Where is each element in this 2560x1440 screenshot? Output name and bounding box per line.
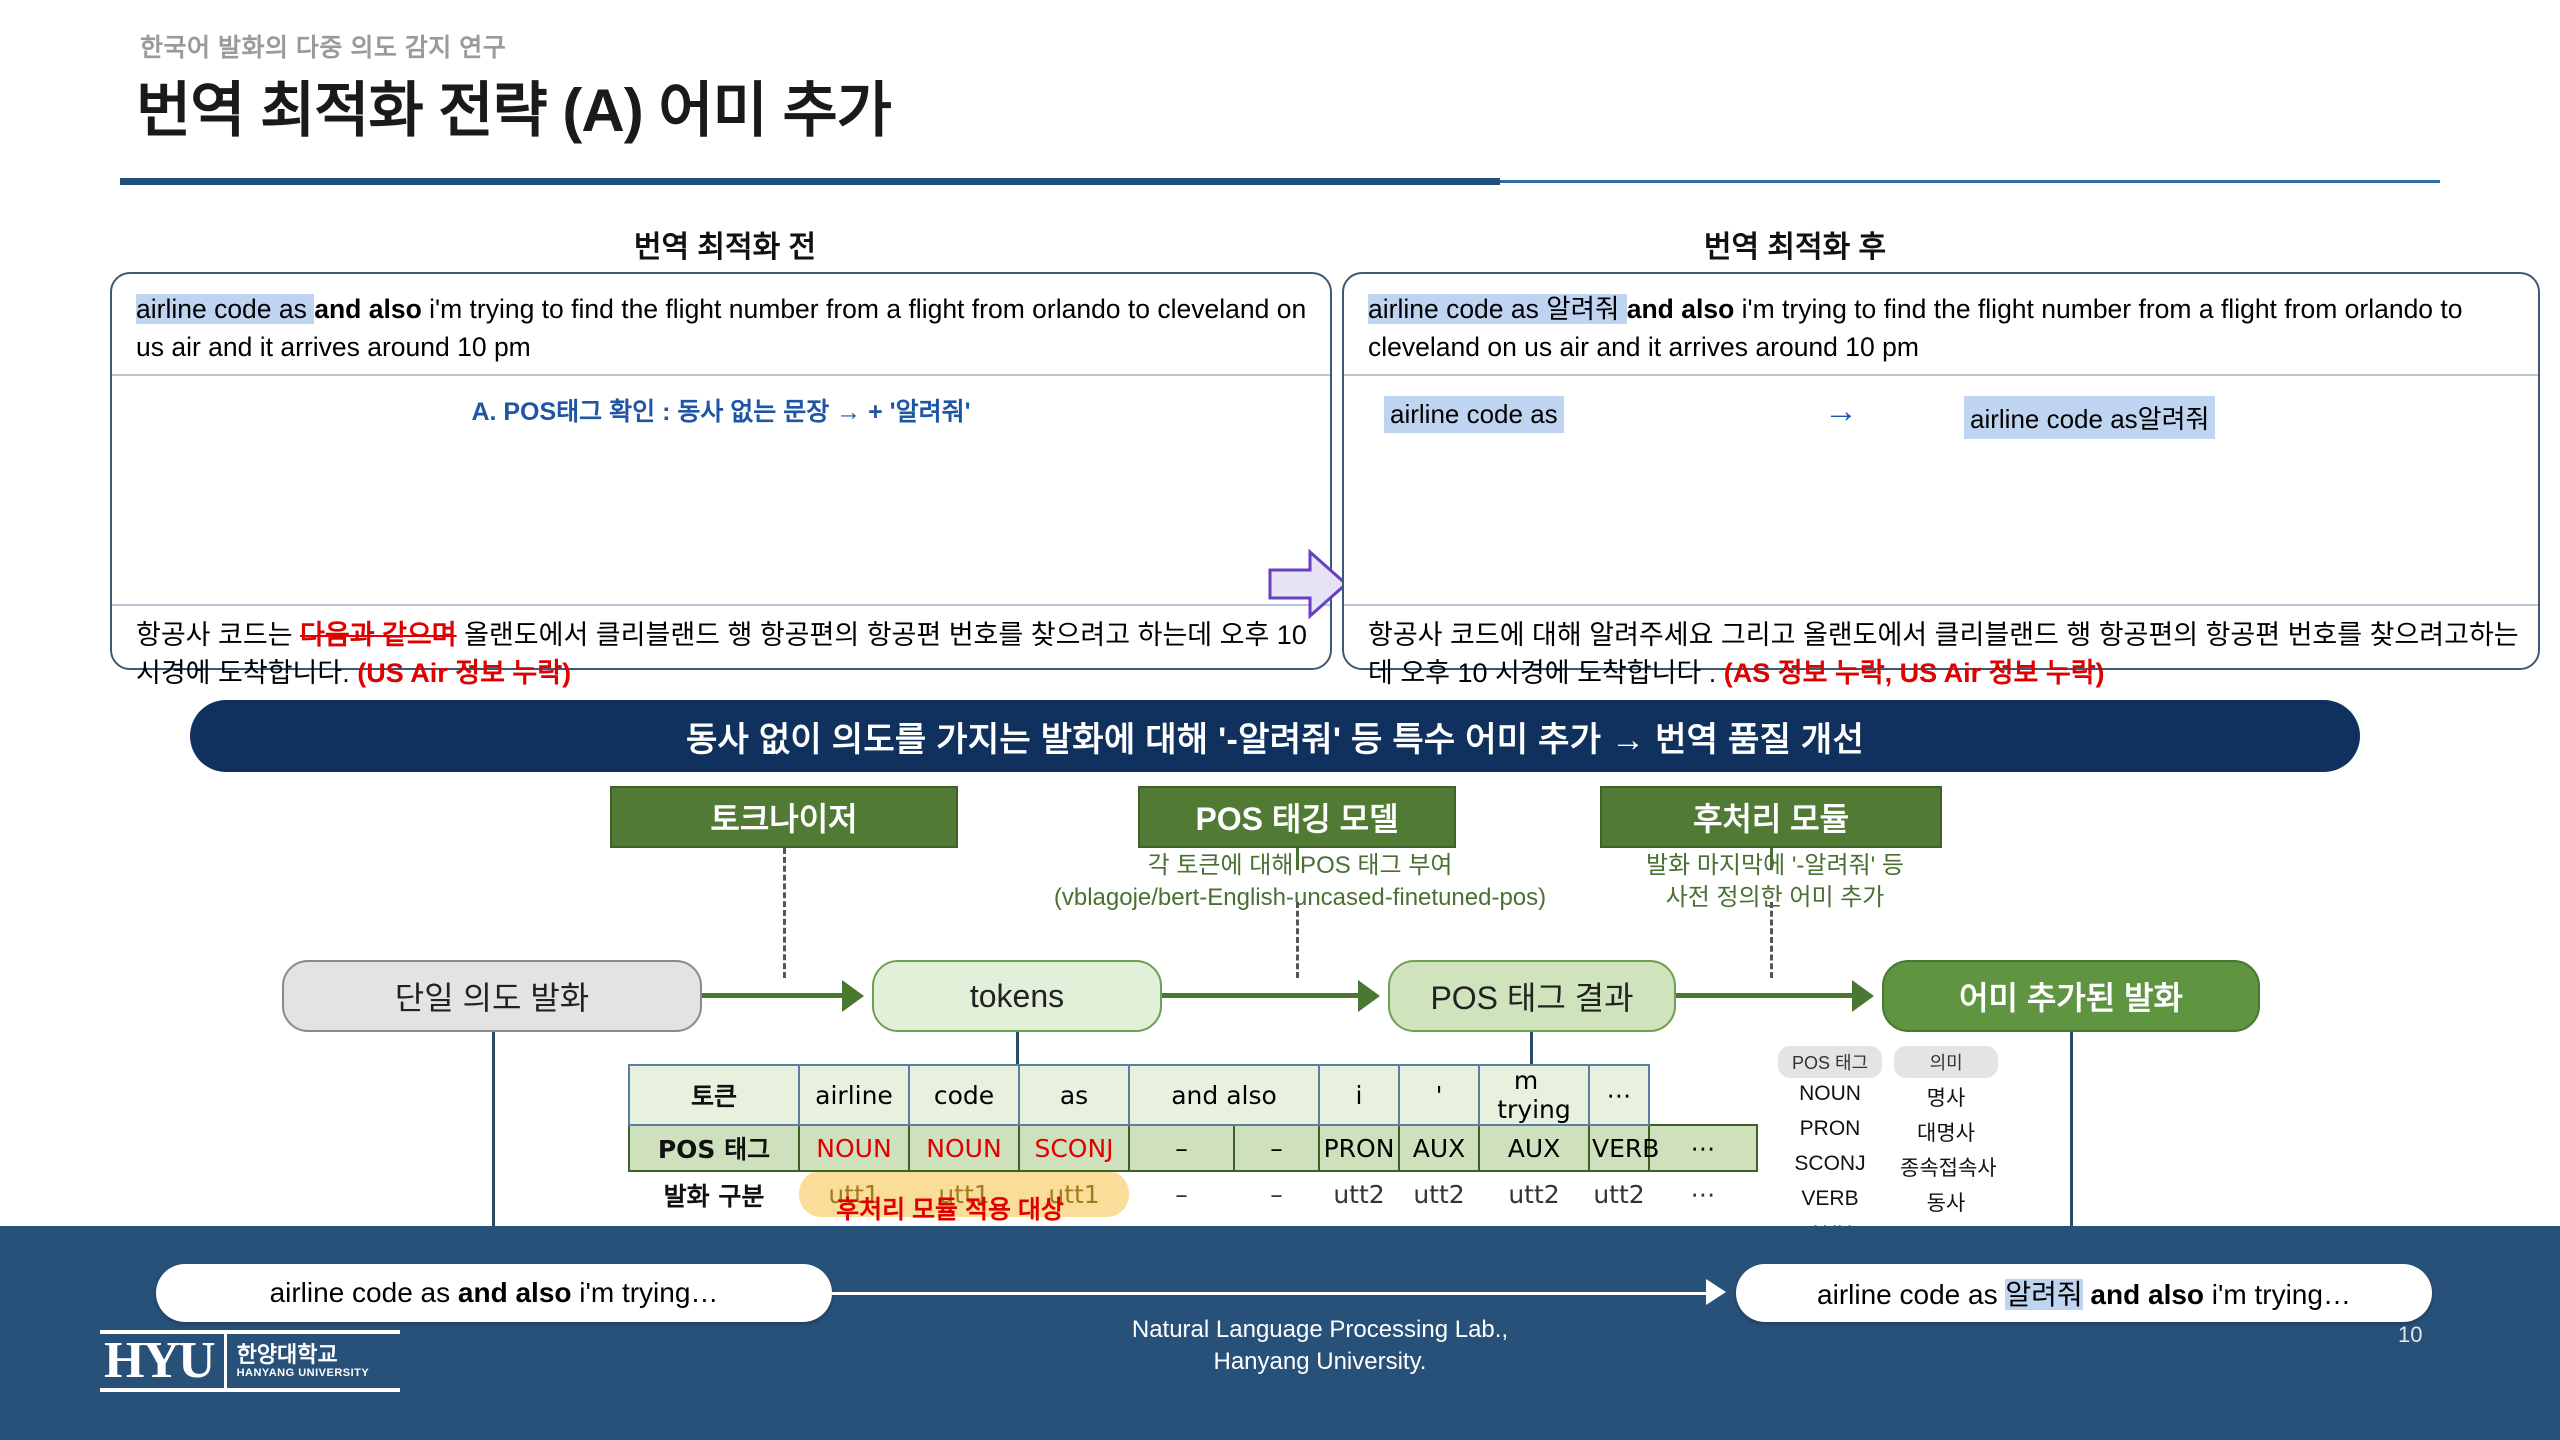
logo-wordmark: HYU — [100, 1335, 214, 1387]
caption-after: 번역 최적화 후 — [1630, 222, 1960, 266]
flow-arrow-2 — [1162, 993, 1362, 998]
before-translation-warning: (US Air 정보 누락) — [357, 658, 571, 688]
legend-row: SCONJ 종속접속사 — [1778, 1151, 2003, 1183]
pos-desc-line2: (vblagoje/bert-English-uncased-finetuned… — [1000, 882, 1600, 914]
pos-cell: – — [1234, 1125, 1319, 1171]
slide-root: 한국어 발화의 다중 의도 감지 연구 번역 최적화 전략 (A) 어미 추가 … — [0, 0, 2560, 1440]
after-sentence-highlight: airline code as 알려줘 — [1368, 294, 1627, 324]
after-arrow-icon: → — [1824, 392, 1858, 431]
before-source-sentence: airline code as and also i'm trying to f… — [136, 290, 1310, 367]
pos-legend: POS 태그 의미 NOUN 명사 PRON 대명사 SCONJ 종속접속사 V… — [1778, 1046, 2003, 1253]
footer-lab-line2: Hanyang University. — [1080, 1346, 1560, 1378]
row-label-pos: POS 태그 — [629, 1125, 799, 1171]
post-module-description: 발화 마지막에 '-알려줘' 등 사전 정의한 어미 추가 — [1600, 850, 1950, 913]
logo-name-en: HANYANG UNIVERSITY — [237, 1367, 370, 1379]
flow-arrow-1 — [702, 993, 846, 998]
key-message-banner: 동사 없이 의도를 가지는 발화에 대해 '-알려줘' 등 특수 어미 추가 →… — [190, 700, 2360, 772]
utterance-cell: utt2 — [1479, 1171, 1589, 1217]
module-tokenizer[interactable]: 토크나이저 — [610, 786, 958, 848]
legend-meaning: 대명사 — [1894, 1116, 1998, 1148]
token-cell: i — [1319, 1065, 1399, 1125]
flow-arrowhead-1 — [842, 980, 864, 1012]
before-translation-pre: 항공사 코드는 — [136, 620, 300, 650]
utterance-cell: utt2 — [1399, 1171, 1479, 1217]
token-cell: m trying — [1479, 1065, 1589, 1125]
right-pill-pre: airline code as — [1817, 1279, 2005, 1310]
module-pos-tagger[interactable]: POS 태깅 모델 — [1138, 786, 1456, 848]
pos-cell: NOUN — [909, 1125, 1019, 1171]
legend-tag: NOUN — [1778, 1081, 1882, 1113]
pos-desc-line1: 각 토큰에 대해 POS 태그 부여 — [1000, 850, 1600, 882]
caption-before: 번역 최적화 전 — [560, 222, 890, 266]
page-title: 번역 최적화 전략 (A) 어미 추가 — [136, 62, 891, 149]
before-divider-bottom — [112, 604, 1330, 606]
footer-lab-line1: Natural Language Processing Lab., — [1080, 1314, 1560, 1346]
dashed-connector-pos — [1296, 902, 1299, 978]
legend-row: VERB 동사 — [1778, 1186, 2003, 1218]
pos-cell: VERB — [1589, 1125, 1649, 1171]
after-translation-warning: (AS 정보 누락, US Air 정보 누락) — [1724, 658, 2105, 688]
title-rule-primary — [120, 178, 1500, 185]
token-cell: and also — [1129, 1065, 1319, 1125]
legend-header-tag: POS 태그 — [1778, 1046, 1882, 1078]
panel-before-optimization: airline code as and also i'm trying to f… — [110, 272, 1332, 670]
token-cell: ' — [1399, 1065, 1479, 1125]
after-chip-result: airline code as알려줘 — [1964, 396, 2215, 439]
example-output-pill: airline code as 알려줘 and also i'm trying… — [1736, 1264, 2432, 1322]
right-pill-highlight: 알려줘 — [2005, 1279, 2082, 1310]
flow-arrowhead-2 — [1358, 980, 1380, 1012]
slide-eyebrow: 한국어 발화의 다중 의도 감지 연구 — [140, 28, 506, 64]
legend-tag: VERB — [1778, 1186, 1882, 1218]
after-chip-source: airline code as — [1384, 396, 1564, 433]
pos-cell: PRON — [1319, 1125, 1399, 1171]
drop-line-tokens — [1016, 1032, 1019, 1064]
flow-node-suffix-added[interactable]: 어미 추가된 발화 — [1882, 960, 2260, 1032]
table-row-pos: POS 태그 NOUN NOUN SCONJ – – PRON AUX AUX … — [629, 1125, 1757, 1171]
legend-header-meaning: 의미 — [1894, 1046, 1998, 1078]
pos-legend-header: POS 태그 의미 — [1778, 1046, 2003, 1078]
left-pill-pre: airline code as — [270, 1277, 458, 1308]
module-postprocessor[interactable]: 후처리 모듈 — [1600, 786, 1942, 848]
right-pill-post: i'm trying… — [2204, 1279, 2351, 1310]
after-sentence-bold: and also — [1627, 294, 1735, 324]
flow-node-single-intent[interactable]: 단일 의도 발화 — [282, 960, 702, 1032]
left-pill-post: i'm trying… — [572, 1277, 719, 1308]
example-connector-arrowhead — [1706, 1279, 1726, 1305]
footer-lab-credit: Natural Language Processing Lab., Hanyan… — [1080, 1314, 1560, 1379]
logo-divider — [224, 1334, 227, 1388]
post-desc-line1: 발화 마지막에 '-알려줘' 등 — [1600, 850, 1950, 882]
drop-line-pos — [1530, 1032, 1533, 1064]
flow-node-pos-result[interactable]: POS 태그 결과 — [1388, 960, 1676, 1032]
post-desc-line2: 사전 정의한 어미 추가 — [1600, 882, 1950, 914]
legend-row: NOUN 명사 — [1778, 1081, 2003, 1113]
dashed-connector-tokenizer — [783, 848, 786, 978]
example-connector-line — [832, 1292, 1712, 1295]
transition-arrow — [1268, 548, 1348, 625]
before-divider-top — [112, 374, 1330, 376]
utterance-cell: utt2 — [1589, 1171, 1649, 1217]
legend-tag: SCONJ — [1778, 1151, 1882, 1183]
before-sentence-highlight: airline code as — [136, 294, 314, 324]
row-label-token: 토큰 — [629, 1065, 799, 1125]
after-translation: 항공사 코드에 대해 알려주세요 그리고 올랜도에서 클리블랜드 행 항공편의 … — [1368, 616, 2520, 693]
after-divider-bottom — [1344, 604, 2538, 606]
pos-cell: AUX — [1479, 1125, 1589, 1171]
right-pill-bold: and also — [2083, 1279, 2204, 1310]
legend-row: PRON 대명사 — [1778, 1116, 2003, 1148]
legend-tag: PRON — [1778, 1116, 1882, 1148]
pos-cell: NOUN — [799, 1125, 909, 1171]
title-rule-secondary — [1500, 180, 2440, 183]
token-cell: airline — [799, 1065, 909, 1125]
before-sentence-bold: and also — [314, 294, 422, 324]
before-pos-note: A. POS태그 확인 : 동사 없는 문장 → + '알려줘' — [112, 392, 1330, 428]
utterance-cell: utt2 — [1319, 1171, 1399, 1217]
utterance-cell-ellipsis: ⋯ — [1649, 1171, 1757, 1217]
pos-cell: SCONJ — [1019, 1125, 1129, 1171]
before-translation: 항공사 코드는 다음과 같으며 올랜도에서 클리블랜드 행 항공편의 항공편 번… — [136, 616, 1312, 693]
token-cell: as — [1019, 1065, 1129, 1125]
flow-arrow-3 — [1676, 993, 1856, 998]
postprocess-target-note: 후처리 모듈 적용 대상 — [740, 1190, 1160, 1226]
token-cell-trying: trying — [1497, 1095, 1571, 1124]
flow-node-tokens[interactable]: tokens — [872, 960, 1162, 1032]
after-source-sentence: airline code as 알려줘 and also i'm trying … — [1368, 290, 2518, 367]
logo-name-kr: 한양대학교 — [237, 1343, 370, 1367]
example-input-pill: airline code as and also i'm trying… — [156, 1264, 832, 1322]
pos-module-description: 각 토큰에 대해 POS 태그 부여 (vblagoje/bert-Englis… — [1000, 850, 1600, 913]
token-cell-m: m — [1514, 1066, 1538, 1095]
page-number: 10 — [2398, 1322, 2422, 1348]
token-cell-ellipsis: ⋯ — [1589, 1065, 1649, 1125]
legend-meaning: 동사 — [1894, 1186, 1998, 1218]
after-transform-row: airline code as → airline code as알려줘 — [1344, 392, 2538, 452]
flow-arrowhead-3 — [1852, 980, 1874, 1012]
legend-meaning: 종속접속사 — [1894, 1151, 2003, 1183]
pos-cell-ellipsis: ⋯ — [1649, 1125, 1757, 1171]
left-pill-bold: and also — [458, 1277, 572, 1308]
after-divider-top — [1344, 374, 2538, 376]
pos-cell: AUX — [1399, 1125, 1479, 1171]
pos-cell: – — [1129, 1125, 1234, 1171]
before-translation-strike: 다음과 같으며 — [300, 620, 457, 650]
hyu-logo: HYU 한양대학교 HANYANG UNIVERSITY — [100, 1330, 400, 1392]
dashed-connector-post — [1770, 902, 1773, 978]
panel-after-optimization: airline code as 알려줘 and also i'm trying … — [1342, 272, 2540, 670]
utterance-cell: – — [1234, 1171, 1319, 1217]
legend-meaning: 명사 — [1894, 1081, 1998, 1113]
token-cell: code — [909, 1065, 1019, 1125]
table-row-tokens: 토큰 airline code as and also i ' m trying… — [629, 1065, 1757, 1125]
